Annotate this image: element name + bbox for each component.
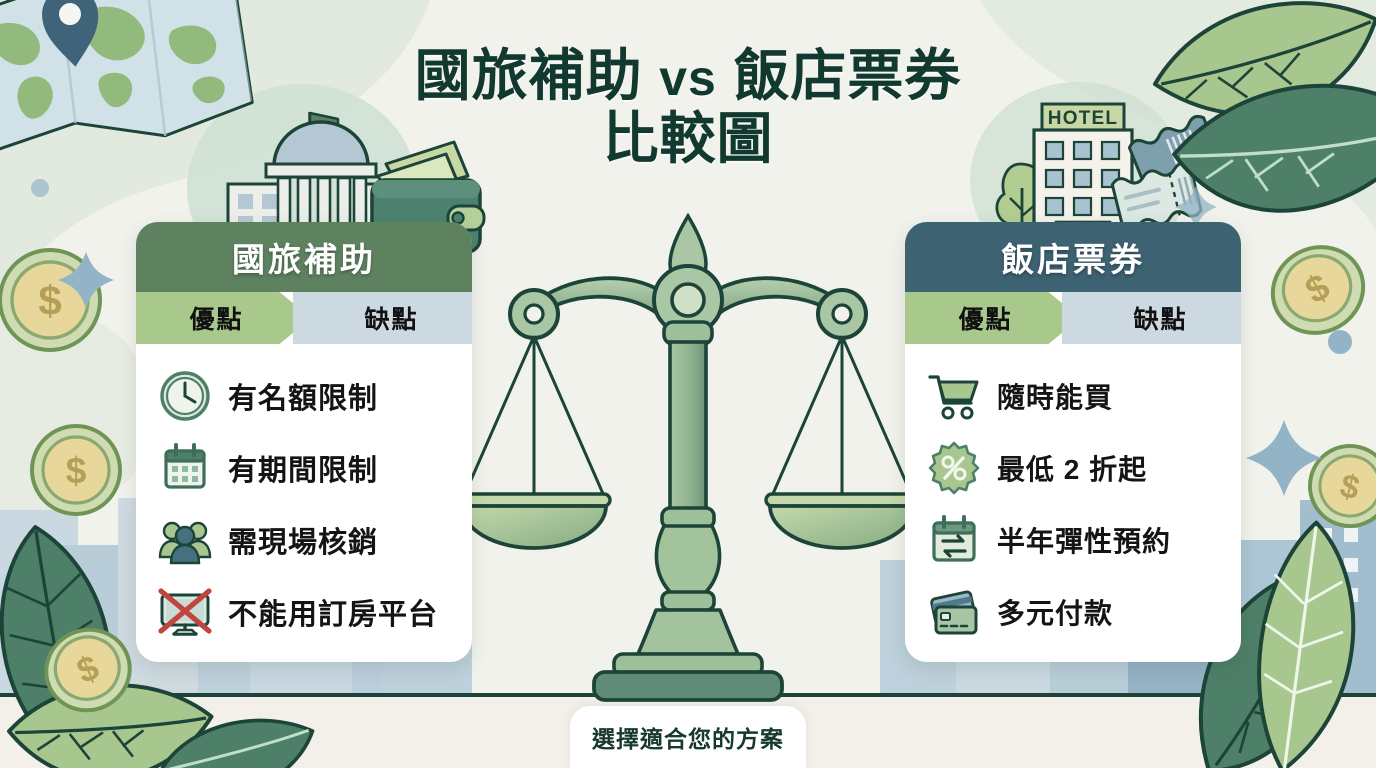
svg-text:$: $	[38, 277, 61, 324]
list-item: 不能用訂房平台	[136, 576, 472, 648]
shopping-cart-icon	[927, 369, 981, 423]
card-right-tabs: 優點 缺點	[905, 292, 1241, 344]
list-item-label: 半年彈性預約	[997, 520, 1171, 560]
bottom-caption: 選擇適合您的方案	[570, 706, 806, 768]
tab-pros-right[interactable]: 優點	[905, 292, 1080, 344]
calendar-icon	[158, 441, 212, 495]
list-item-label: 有名額限制	[228, 375, 378, 417]
card-left-items: 有名額限制 有期間限制	[136, 344, 472, 648]
list-item-label: 有期間限制	[228, 447, 378, 489]
svg-text:$: $	[66, 450, 87, 491]
list-item-label: 不能用訂房平台	[228, 591, 438, 633]
tab-pros-left[interactable]: 優點	[136, 292, 311, 344]
comparison-card-right: 飯店票券 優點 缺點 隨時能買	[905, 222, 1241, 662]
no-monitor-icon	[158, 585, 212, 639]
list-item: 有期間限制	[136, 432, 472, 504]
comparison-card-left: 國旅補助 優點 缺點 有名額限制	[136, 222, 472, 662]
clock-icon	[158, 369, 212, 423]
tab-cons-left[interactable]: 缺點	[293, 292, 472, 344]
list-item-label: 最低 2 折起	[997, 448, 1147, 488]
infographic-canvas: HOTEL	[0, 0, 1376, 768]
list-item-label: 多元付款	[997, 592, 1113, 632]
people-icon	[158, 513, 212, 567]
list-item: 多元付款	[905, 576, 1241, 648]
balance-scale-icon	[458, 210, 918, 710]
list-item: 需現場核銷	[136, 504, 472, 576]
list-item: 隨時能買	[905, 360, 1241, 432]
card-right-items: 隨時能買 最低 2 折起	[905, 344, 1241, 648]
card-right-title: 飯店票券	[905, 222, 1241, 292]
discount-badge-icon	[927, 441, 981, 495]
credit-cards-icon	[927, 585, 981, 639]
list-item: 有名額限制	[136, 360, 472, 432]
list-item-label: 需現場核銷	[228, 519, 378, 561]
card-left-tabs: 優點 缺點	[136, 292, 472, 344]
list-item: 半年彈性預約	[905, 504, 1241, 576]
list-item: 最低 2 折起	[905, 432, 1241, 504]
card-left-title: 國旅補助	[136, 222, 472, 292]
calendar-sync-icon	[927, 513, 981, 567]
tab-cons-right[interactable]: 缺點	[1062, 292, 1241, 344]
svg-text:HOTEL: HOTEL	[1048, 108, 1118, 129]
list-item-label: 隨時能買	[997, 376, 1113, 416]
